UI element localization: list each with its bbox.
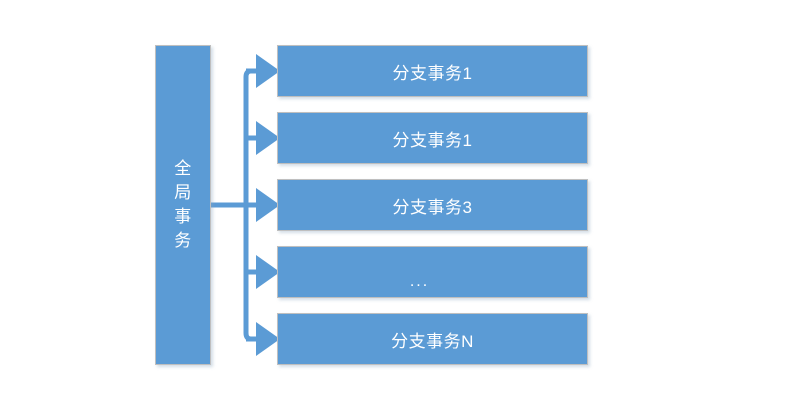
branch-transaction-node-2[interactable]: 分支事务1	[277, 112, 588, 164]
connector-trunk	[246, 71, 257, 339]
branch-transaction-node-1[interactable]: 分支事务1	[277, 45, 588, 97]
branch-transaction-label-2: 分支事务1	[278, 113, 587, 163]
branch-transaction-label-ellipsis: ...	[278, 247, 587, 297]
branch-transaction-label-1: 分支事务1	[278, 46, 587, 96]
global-transaction-node[interactable]: 全 局 事 务	[155, 45, 211, 365]
branch-transaction-node-3[interactable]: 分支事务3	[277, 179, 588, 231]
branch-transaction-node-ellipsis[interactable]: ...	[277, 246, 588, 298]
branch-transaction-label-3: 分支事务3	[278, 180, 587, 230]
diagram-canvas: 全 局 事 务 分支事务1 分支事务1 分支事务3 ... 分支事务N	[0, 0, 808, 406]
branch-transaction-label-n: 分支事务N	[278, 314, 587, 364]
branch-transaction-node-n[interactable]: 分支事务N	[277, 313, 588, 365]
global-transaction-label: 全 局 事 务	[156, 46, 210, 364]
